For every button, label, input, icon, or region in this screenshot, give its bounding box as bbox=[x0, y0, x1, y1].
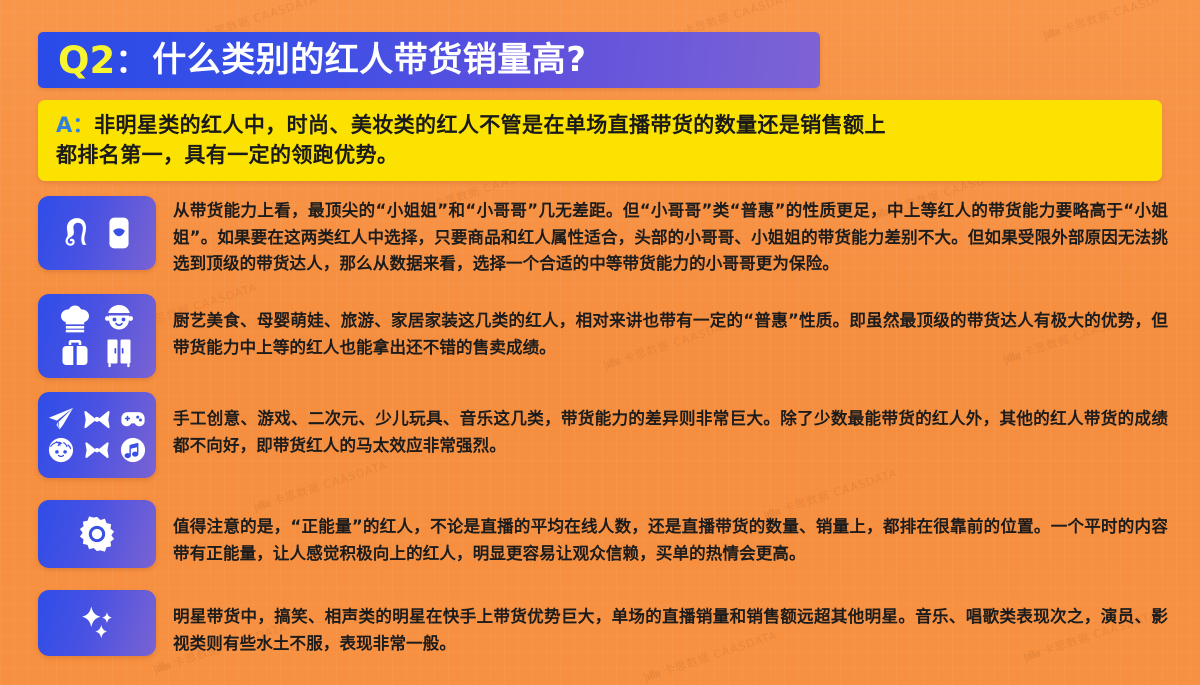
content-row: 厨艺美食、母婴萌娃、旅游、家居家装这几类的红人，相对来讲也带有一定的“普惠”性质… bbox=[38, 294, 1168, 378]
icon-tile-celebrity[interactable] bbox=[38, 590, 156, 656]
content-row: 手工创意、游戏、二次元、少儿玩具、音乐这几类，带货能力的差异则非常巨大。除了少数… bbox=[38, 392, 1168, 478]
row-paragraph: 从带货能力上看，最顶尖的“小姐姐”和“小哥哥”几无差距。但“小哥哥”类“普惠”的… bbox=[156, 196, 1168, 278]
gamepad-icon bbox=[120, 407, 146, 431]
row-paragraph: 厨艺美食、母婴萌娃、旅游、家居家装这几类的红人，相对来讲也带有一定的“普惠”性质… bbox=[156, 294, 1168, 361]
baby-face-icon bbox=[102, 304, 136, 334]
row-paragraph: 值得注意的是，“正能量”的红人，不论是直播的平均在线人数，还是直播带货的数量、销… bbox=[156, 500, 1168, 567]
answer-box: A：非明星类的红人中，时尚、美妆类的红人不管是在单场直播带货的数量还是销售额上 … bbox=[38, 100, 1162, 181]
sun-burst-icon bbox=[78, 515, 116, 553]
anime-face-icon bbox=[48, 436, 74, 464]
icon-tile-handcraft-game-anime-toy-music[interactable] bbox=[38, 392, 156, 478]
icon-tile-fashion-beauty[interactable] bbox=[38, 196, 156, 270]
answer-text-1: 非明星类的红人中，时尚、美妆类的红人不管是在单场直播带货的数量还是销售额上 bbox=[94, 113, 886, 137]
icon-tile-food-baby-travel-home[interactable] bbox=[38, 294, 156, 378]
answer-prefix: A： bbox=[56, 113, 94, 137]
content-row: 值得注意的是，“正能量”的红人，不论是直播的平均在线人数，还是直播带货的数量、销… bbox=[38, 500, 1168, 568]
paper-plane-icon bbox=[48, 406, 74, 432]
row-paragraph: 明星带货中，搞笑、相声类的明星在快手上带货优势巨大，单场的直播销量和销售额远超其… bbox=[156, 590, 1168, 657]
lipstick-icon bbox=[102, 216, 136, 250]
ribbon-icon bbox=[84, 439, 110, 461]
content-rows: 从带货能力上看，最顶尖的“小姐姐”和“小哥哥”几无差距。但“小哥哥”类“普惠”的… bbox=[38, 196, 1168, 670]
content-row: 明星带货中，搞笑、相声类的明星在快手上带货优势巨大，单场的直播销量和销售额远超其… bbox=[38, 590, 1168, 657]
sparkles-icon bbox=[76, 604, 118, 642]
content-row: 从带货能力上看，最顶尖的“小姐姐”和“小哥哥”几无差距。但“小哥哥”类“普惠”的… bbox=[38, 196, 1168, 278]
suitcase-icon bbox=[58, 338, 92, 368]
question-text: 什么类别的红人带货销量高 bbox=[152, 43, 566, 77]
question-number: Q2 bbox=[58, 42, 115, 79]
bow-tie-icon bbox=[84, 407, 110, 431]
watermark: |ıllıı 卡思数据 CAASDATA bbox=[1041, 0, 1179, 43]
chef-hat-icon bbox=[58, 304, 92, 334]
wardrobe-icon bbox=[102, 338, 136, 368]
slide-background: |ıllıı 卡思数据 CAASDATA |ıllıı 卡思数据 CAASDAT… bbox=[0, 0, 1200, 685]
hair-wig-icon bbox=[58, 216, 92, 250]
answer-line-2: 都排名第一，具有一定的领跑优势。 bbox=[56, 140, 1146, 170]
row-paragraph: 手工创意、游戏、二次元、少儿玩具、音乐这几类，带货能力的差异则非常巨大。除了少数… bbox=[156, 392, 1168, 459]
icon-tile-positive-energy[interactable] bbox=[38, 500, 156, 568]
question-title-bar: Q2 ： 什么类别的红人带货销量高 ? bbox=[38, 32, 820, 88]
title-colon: ： bbox=[115, 44, 148, 77]
question-mark: ? bbox=[566, 43, 586, 77]
answer-line-1: A：非明星类的红人中，时尚、美妆类的红人不管是在单场直播带货的数量还是销售额上 bbox=[56, 110, 1146, 140]
music-note-icon bbox=[120, 436, 146, 464]
